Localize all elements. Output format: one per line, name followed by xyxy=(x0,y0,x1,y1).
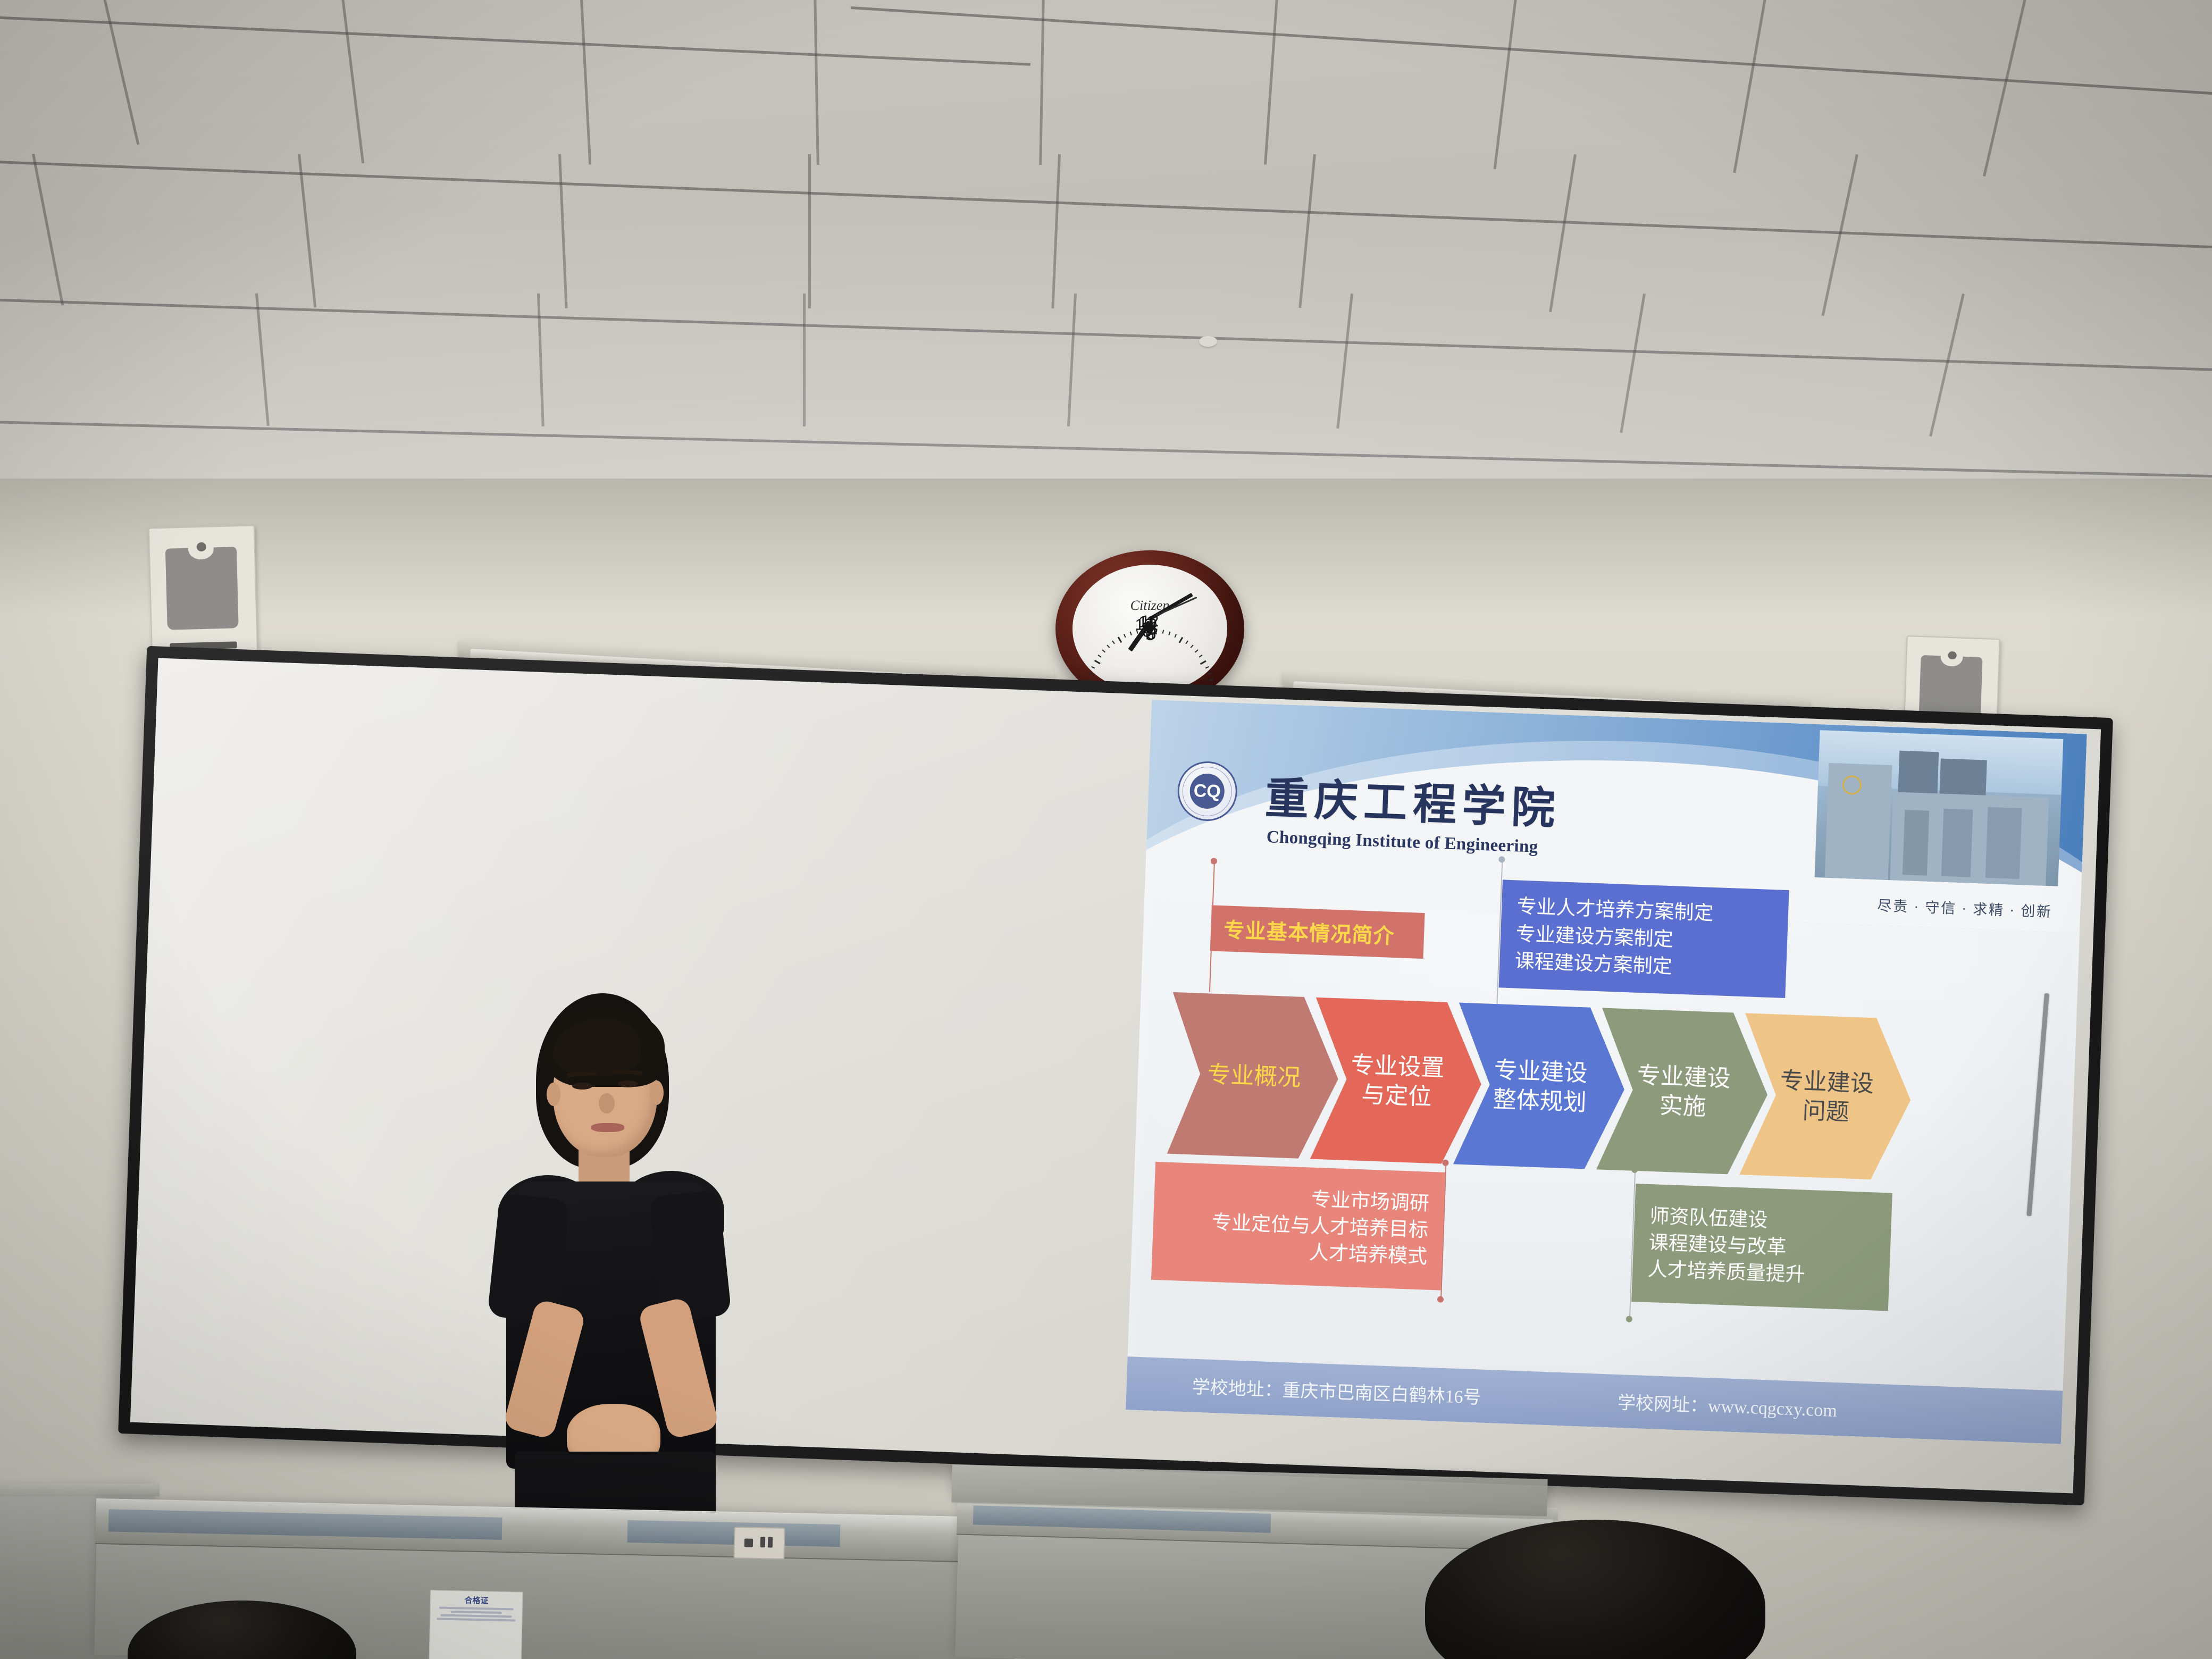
wall-speaker-left xyxy=(148,525,256,659)
chevron-step-5-line-2: 问题 xyxy=(1779,1095,1873,1128)
chevron-step-3-line-1: 专业建设 xyxy=(1494,1055,1588,1088)
slide-title-badge-label: 专业基本情况简介 xyxy=(1224,914,1425,951)
slide-footer-website: 学校网址：www.cqgcxy.com xyxy=(1617,1388,1837,1422)
chevron-step-2-line-2: 与定位 xyxy=(1350,1079,1444,1112)
chevron-step-4-line-1: 专业建设 xyxy=(1637,1061,1731,1093)
chevron-step-3-line-2: 整体规划 xyxy=(1493,1085,1587,1117)
whiteboard[interactable]: CQ 重庆工程学院 Chongqing Institute of Enginee… xyxy=(118,646,2113,1506)
chevron-step-1: 专业概况 xyxy=(1167,992,1342,1160)
ceiling xyxy=(0,0,2212,521)
connector-detail-right-dot-top xyxy=(1631,1167,1638,1173)
side-cabinet-left-top xyxy=(0,1484,160,1496)
projected-slide: CQ 重庆工程学院 Chongqing Institute of Enginee… xyxy=(1126,700,2087,1444)
podium-certification-sticker: 合格证 xyxy=(429,1590,523,1659)
connector-detail-left-dot-bottom xyxy=(1437,1296,1444,1302)
sticker-title: 合格证 xyxy=(434,1594,519,1606)
slide-title-badge: 专业基本情况简介 xyxy=(1210,905,1425,958)
slide-footer-address: 学校地址：重庆市巴南区白鹤林16号 xyxy=(1192,1372,1481,1409)
chevron-step-1-line-1: 专业概况 xyxy=(1206,1060,1301,1092)
chevron-step-2-line-1: 专业设置 xyxy=(1351,1050,1445,1083)
slide-footer: 学校地址：重庆市巴南区白鹤林16号 学校网址：www.cqgcxy.com xyxy=(1126,1356,2063,1444)
chevron-step-5-line-1: 专业建设 xyxy=(1780,1066,1874,1099)
detail-box-right: 师资队伍建设 课程建设与改革 人才培养质量提升 xyxy=(1631,1184,1892,1311)
whiteboard-surface[interactable]: CQ 重庆工程学院 Chongqing Institute of Enginee… xyxy=(130,658,2101,1493)
connector-detail-right-dot-bottom xyxy=(1626,1316,1632,1322)
power-socket[interactable] xyxy=(733,1527,785,1560)
chevron-step-4-line-2: 实施 xyxy=(1636,1090,1730,1122)
plan-box: 专业人才培养方案制定 专业建设方案制定 课程建设方案制定 xyxy=(1499,879,1789,998)
classroom-scene: Citizen 121234567891011 xyxy=(0,0,2212,1659)
connector-plan-dot-top xyxy=(1498,856,1505,862)
clock-numeral: 11 xyxy=(1138,614,1155,632)
smoke-detector-icon xyxy=(1199,336,1217,347)
detail-box-left: 专业市场调研 专业定位与人才培养目标 人才培养模式 xyxy=(1151,1162,1445,1291)
university-name-cn: 重庆工程学院 xyxy=(1264,763,1562,836)
connector-detail-left-dot-top xyxy=(1442,1160,1448,1166)
campus-photo xyxy=(1815,730,2063,886)
